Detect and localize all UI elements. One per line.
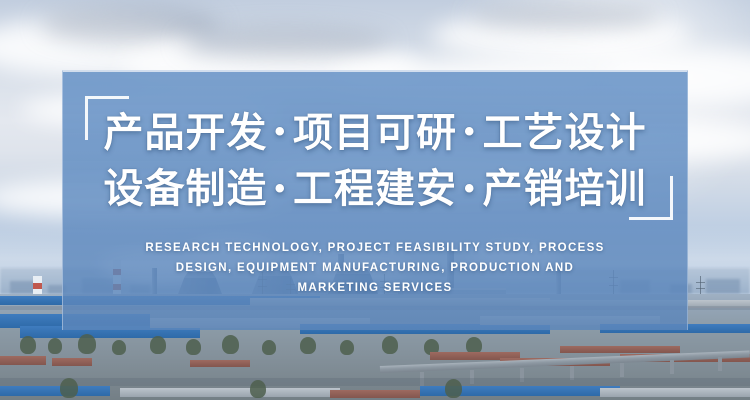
cloud	[180, 28, 390, 58]
headline-2-segment-3: 产销培训	[483, 167, 647, 211]
text-overlay-panel: 产品开发•项目可研•工艺设计 设备制造•工程建安•产销培训 RESEARCH T…	[62, 70, 688, 330]
headline-2-segment-1: 设备制造	[103, 167, 267, 211]
residential-roof	[190, 360, 250, 367]
headline-group: 产品开发•项目可研•工艺设计 设备制造•工程建安•产销培训	[63, 106, 687, 219]
separator-dot: •	[267, 162, 293, 216]
subtitle-line-3: MARKETING SERVICES	[119, 278, 631, 298]
headline-2-segment-2: 工程建安	[293, 167, 457, 211]
residential-roof	[0, 356, 46, 365]
hero-banner: 产品开发•项目可研•工艺设计 设备制造•工程建安•产销培训 RESEARCH T…	[0, 0, 750, 400]
warehouse-roof	[120, 388, 340, 397]
subtitle-line-2: DESIGN, EQUIPMENT MANUFACTURING, PRODUCT…	[119, 258, 631, 278]
residential-roof	[52, 358, 92, 366]
separator-dot: •	[457, 105, 483, 159]
residential-roof	[330, 390, 420, 398]
warehouse-roof	[0, 386, 110, 396]
warehouse-roof	[600, 388, 750, 397]
headline-line-2: 设备制造•工程建安•产销培训	[63, 162, 687, 218]
headline-1-segment-3: 工艺设计	[483, 111, 647, 155]
residential-roof	[560, 346, 680, 353]
separator-dot: •	[267, 105, 293, 159]
headline-1-segment-1: 产品开发	[103, 111, 267, 155]
headline-line-1: 产品开发•项目可研•工艺设计	[63, 106, 687, 162]
separator-dot: •	[457, 162, 483, 216]
cloud	[470, 4, 660, 30]
subtitle-group: RESEARCH TECHNOLOGY, PROJECT FEASIBILITY…	[63, 238, 687, 298]
subtitle-line-1: RESEARCH TECHNOLOGY, PROJECT FEASIBILITY…	[119, 238, 631, 258]
headline-1-segment-2: 项目可研	[293, 111, 457, 155]
